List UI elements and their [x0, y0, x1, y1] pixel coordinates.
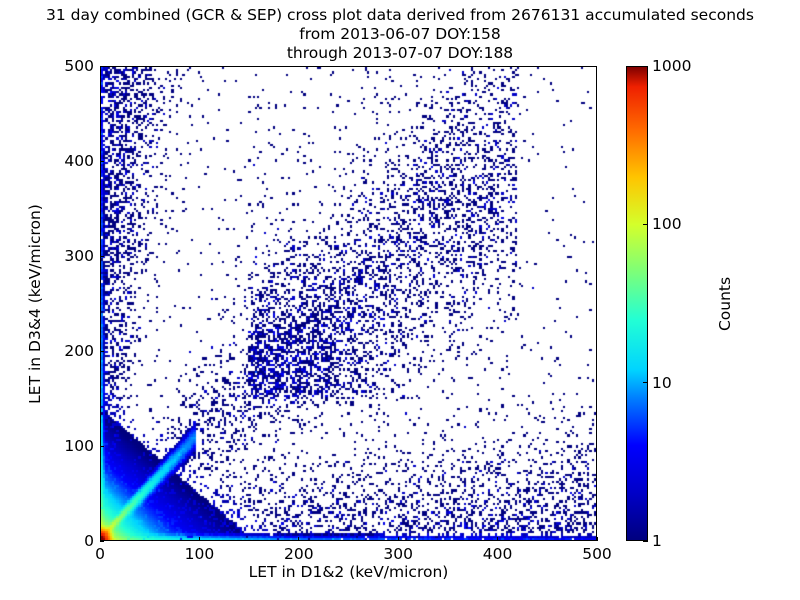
y-tick-label: 500: [64, 57, 94, 75]
y-tick-label: 100: [64, 437, 94, 455]
y-tick-label: 0: [84, 532, 94, 550]
colorbar-tick-label: 1: [652, 532, 662, 550]
y-tick-mark: [100, 66, 104, 67]
plot-axes: [100, 66, 597, 541]
x-tick-mark: [497, 537, 498, 541]
x-tick-mark: [199, 537, 200, 541]
title-line-1: 31 day combined (GCR & SEP) cross plot d…: [0, 6, 800, 25]
y-tick-mark: [100, 256, 104, 257]
y-tick-mark: [100, 351, 104, 352]
y-tick-mark: [100, 541, 104, 542]
colorbar-tick-mark: [643, 541, 648, 542]
title-line-2: from 2013-06-07 DOY:158: [0, 25, 800, 44]
colorbar-gradient: [627, 67, 647, 540]
x-tick-label: 200: [284, 545, 314, 563]
x-tick-label: 0: [95, 545, 105, 563]
x-tick-mark: [597, 537, 598, 541]
scatter-heatmap-data: [101, 67, 596, 540]
x-tick-label: 100: [185, 545, 215, 563]
figure-canvas: 31 day combined (GCR & SEP) cross plot d…: [0, 0, 800, 600]
colorbar-tick-label: 1000: [652, 57, 691, 75]
colorbar-label: Counts: [716, 276, 734, 330]
y-tick-mark: [100, 446, 104, 447]
colorbar: [626, 66, 648, 541]
y-tick-label: 400: [64, 152, 94, 170]
x-tick-label: 300: [383, 545, 413, 563]
y-tick-mark: [100, 161, 104, 162]
x-tick-label: 500: [582, 545, 612, 563]
x-tick-label: 400: [483, 545, 513, 563]
x-tick-mark: [298, 537, 299, 541]
x-tick-mark: [398, 537, 399, 541]
y-tick-label: 300: [64, 247, 94, 265]
colorbar-tick-mark: [643, 66, 648, 67]
x-axis-label: LET in D1&2 (keV/micron): [100, 563, 597, 581]
colorbar-tick-label: 10: [652, 374, 672, 392]
chart-title: 31 day combined (GCR & SEP) cross plot d…: [0, 6, 800, 63]
colorbar-tick-mark: [643, 224, 648, 225]
colorbar-tick-label: 100: [652, 215, 682, 233]
colorbar-tick-mark: [643, 382, 648, 383]
y-tick-label: 200: [64, 342, 94, 360]
y-axis-label: LET in D3&4 (keV/micron): [26, 204, 44, 404]
